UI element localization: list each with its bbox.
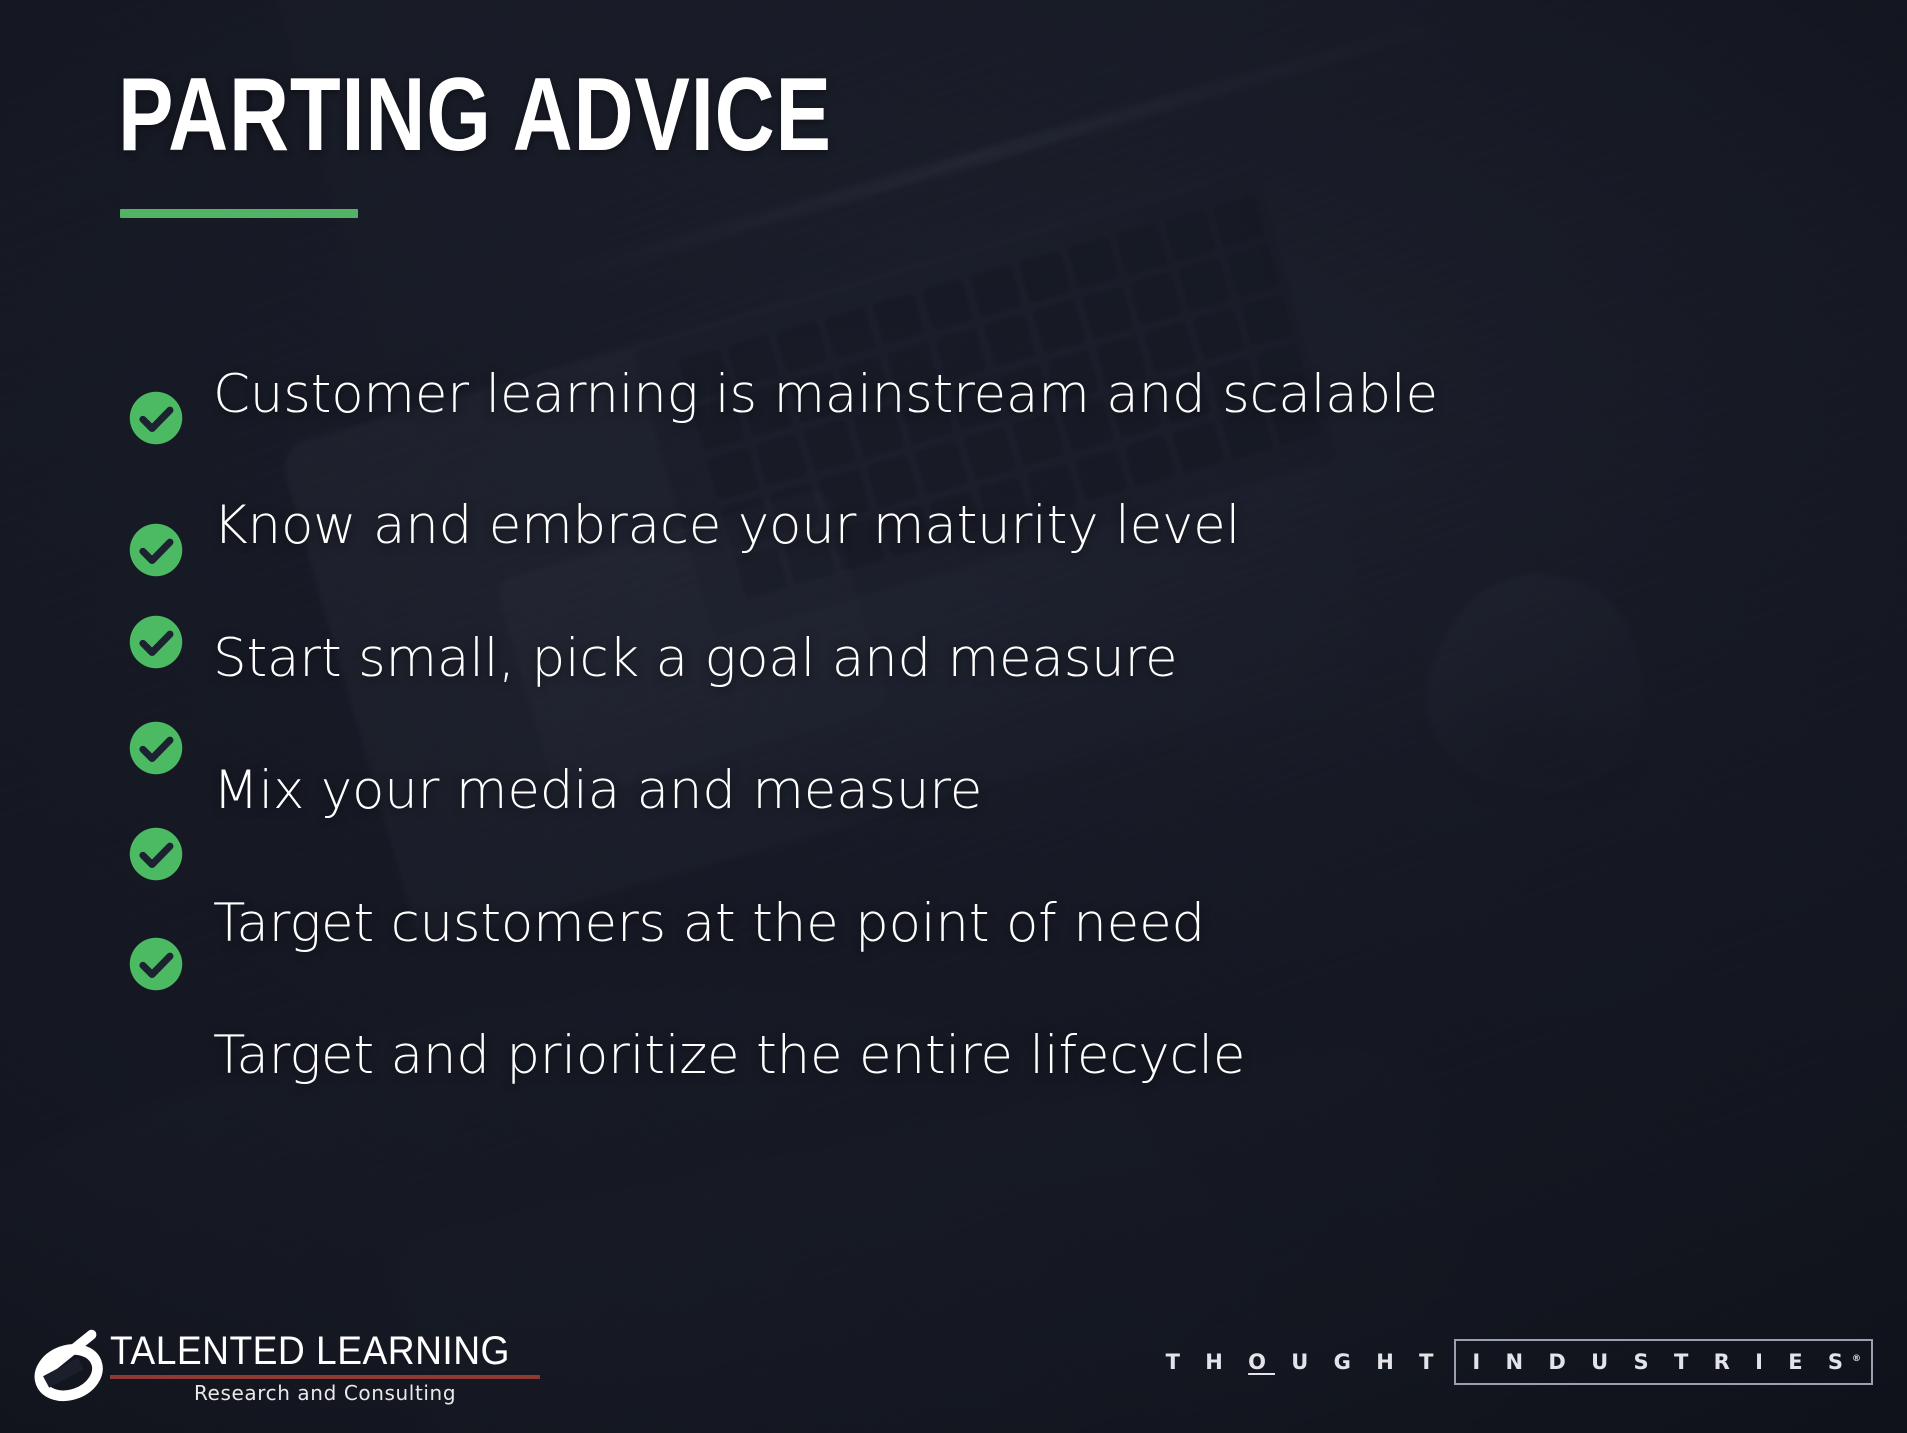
check-circle-icon	[128, 390, 184, 446]
list-item: Customer learning is mainstream and scal…	[213, 364, 1438, 425]
check-circle-icon	[128, 614, 184, 670]
bullet-list: Customer learning is mainstream and scal…	[0, 0, 1907, 1433]
thought-industries-word-one: T H O U G H T	[1166, 1350, 1443, 1374]
list-item: Target customers at the point of need	[213, 893, 1205, 954]
thought-industries-box: I N D U S T R I E S®	[1454, 1339, 1873, 1385]
list-item: Target and prioritize the entire lifecyc…	[213, 1025, 1245, 1086]
check-circle-icon	[128, 826, 184, 882]
thought-industries-word-two: I N D U S T R I E S®	[1472, 1350, 1861, 1374]
slide-content: PARTING ADVICE Customer learning is main…	[0, 0, 1907, 1433]
slide: PARTING ADVICE Customer learning is main…	[0, 0, 1907, 1433]
check-circle-icon	[128, 936, 184, 992]
check-circle-icon	[128, 522, 184, 578]
list-item: Start small, pick a goal and measure	[213, 628, 1177, 689]
check-circle-icon	[128, 720, 184, 776]
registered-trademark-icon: ®	[1852, 1354, 1861, 1364]
list-item: Mix your media and measure	[213, 760, 982, 821]
talented-learning-rule	[110, 1375, 540, 1379]
thought-industries-logo: T H O U G H T I N D U S T R I E S®	[1166, 1339, 1873, 1385]
talented-learning-name: TALENTED LEARNING	[110, 1331, 510, 1372]
list-item: Know and embrace your maturity level	[213, 495, 1240, 556]
talented-learning-logo: TALENTED LEARNING Research and Consultin…	[26, 1325, 540, 1411]
talented-learning-tagline: Research and Consulting	[110, 1381, 540, 1405]
talented-learning-wordmark: TALENTED LEARNING Research and Consultin…	[110, 1331, 540, 1405]
stylized-e-icon	[26, 1327, 108, 1409]
